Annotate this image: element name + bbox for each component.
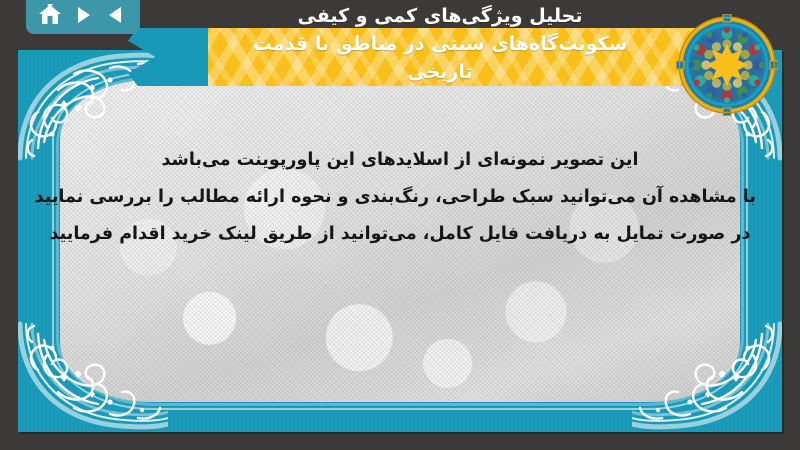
title-banner (205, 28, 705, 86)
slide-body-text: این تصویر نمونه‌ای از اسلایدهای این پاور… (18, 142, 782, 253)
body-line-2: با مشاهده آن می‌توانید سبک طراحی، رنگ‌بن… (44, 179, 756, 216)
slide-stage: این تصویر نمونه‌ای از اسلایدهای این پاور… (0, 0, 800, 450)
body-line-3: در صورت تمایل به دریافت فایل کامل، می‌تو… (44, 216, 756, 253)
triangle-left-icon (105, 4, 127, 26)
navigation-toolbar (26, 0, 140, 34)
triangle-right-icon (72, 4, 94, 26)
next-slide-button[interactable] (70, 2, 96, 28)
body-line-1: این تصویر نمونه‌ای از اسلایدهای این پاور… (44, 142, 756, 179)
slide-frame: این تصویر نمونه‌ای از اسلایدهای این پاور… (18, 50, 782, 432)
title-line-1: تحلیل ویژگی‌های کمی و کیفی (180, 2, 700, 30)
home-button[interactable] (37, 2, 63, 28)
home-icon (38, 4, 62, 26)
persian-medallion-ornament (676, 14, 778, 116)
previous-slide-button[interactable] (103, 2, 129, 28)
